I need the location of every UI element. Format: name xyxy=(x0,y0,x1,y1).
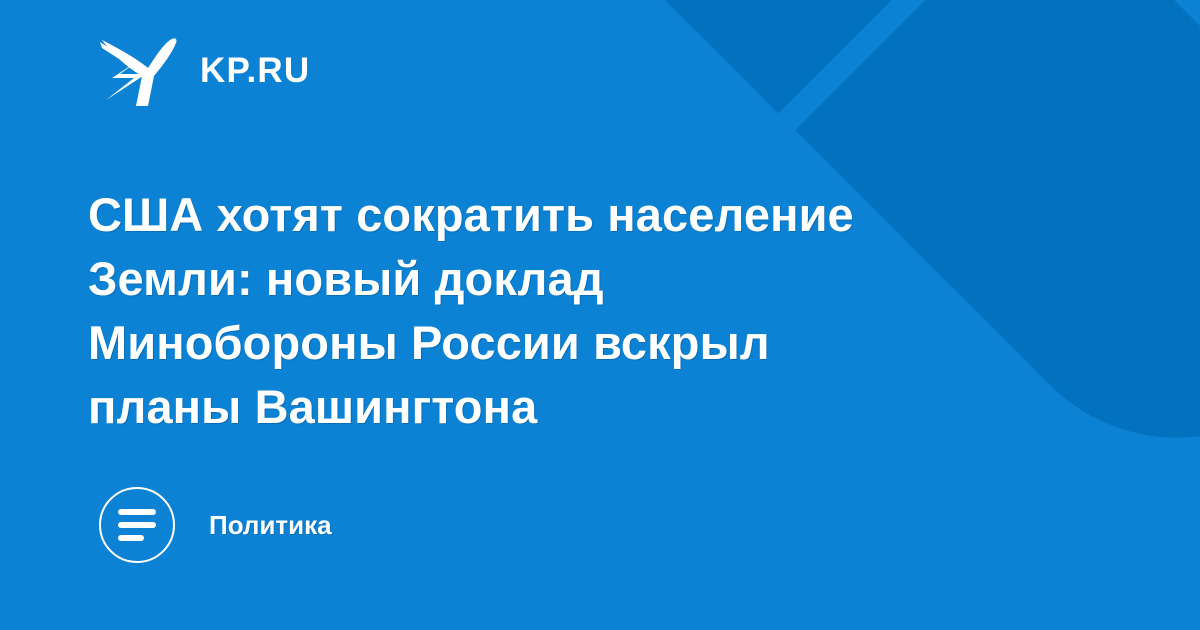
list-lines-icon[interactable] xyxy=(99,487,175,563)
brand-logo-text: KP.RU xyxy=(200,53,310,88)
list-line-2 xyxy=(118,522,156,528)
headline-line-3: Минобороны России вскрыл xyxy=(88,311,1068,375)
share-card: KP.RU США хотят сократить население Земл… xyxy=(0,0,1200,630)
list-line-3 xyxy=(118,535,144,541)
headline-line-1: США хотят сократить население xyxy=(88,183,1068,247)
page-title: США хотят сократить население Земли: нов… xyxy=(88,183,1068,439)
list-line-1 xyxy=(118,509,156,515)
headline-line-4: планы Вашингтона xyxy=(88,375,1068,439)
category-badge[interactable]: Политика xyxy=(99,487,332,563)
site-header[interactable]: KP.RU xyxy=(100,34,310,106)
category-label: Политика xyxy=(209,512,332,538)
swallow-bird-icon xyxy=(100,34,178,106)
headline-line-2: Земли: новый доклад xyxy=(88,247,1068,311)
